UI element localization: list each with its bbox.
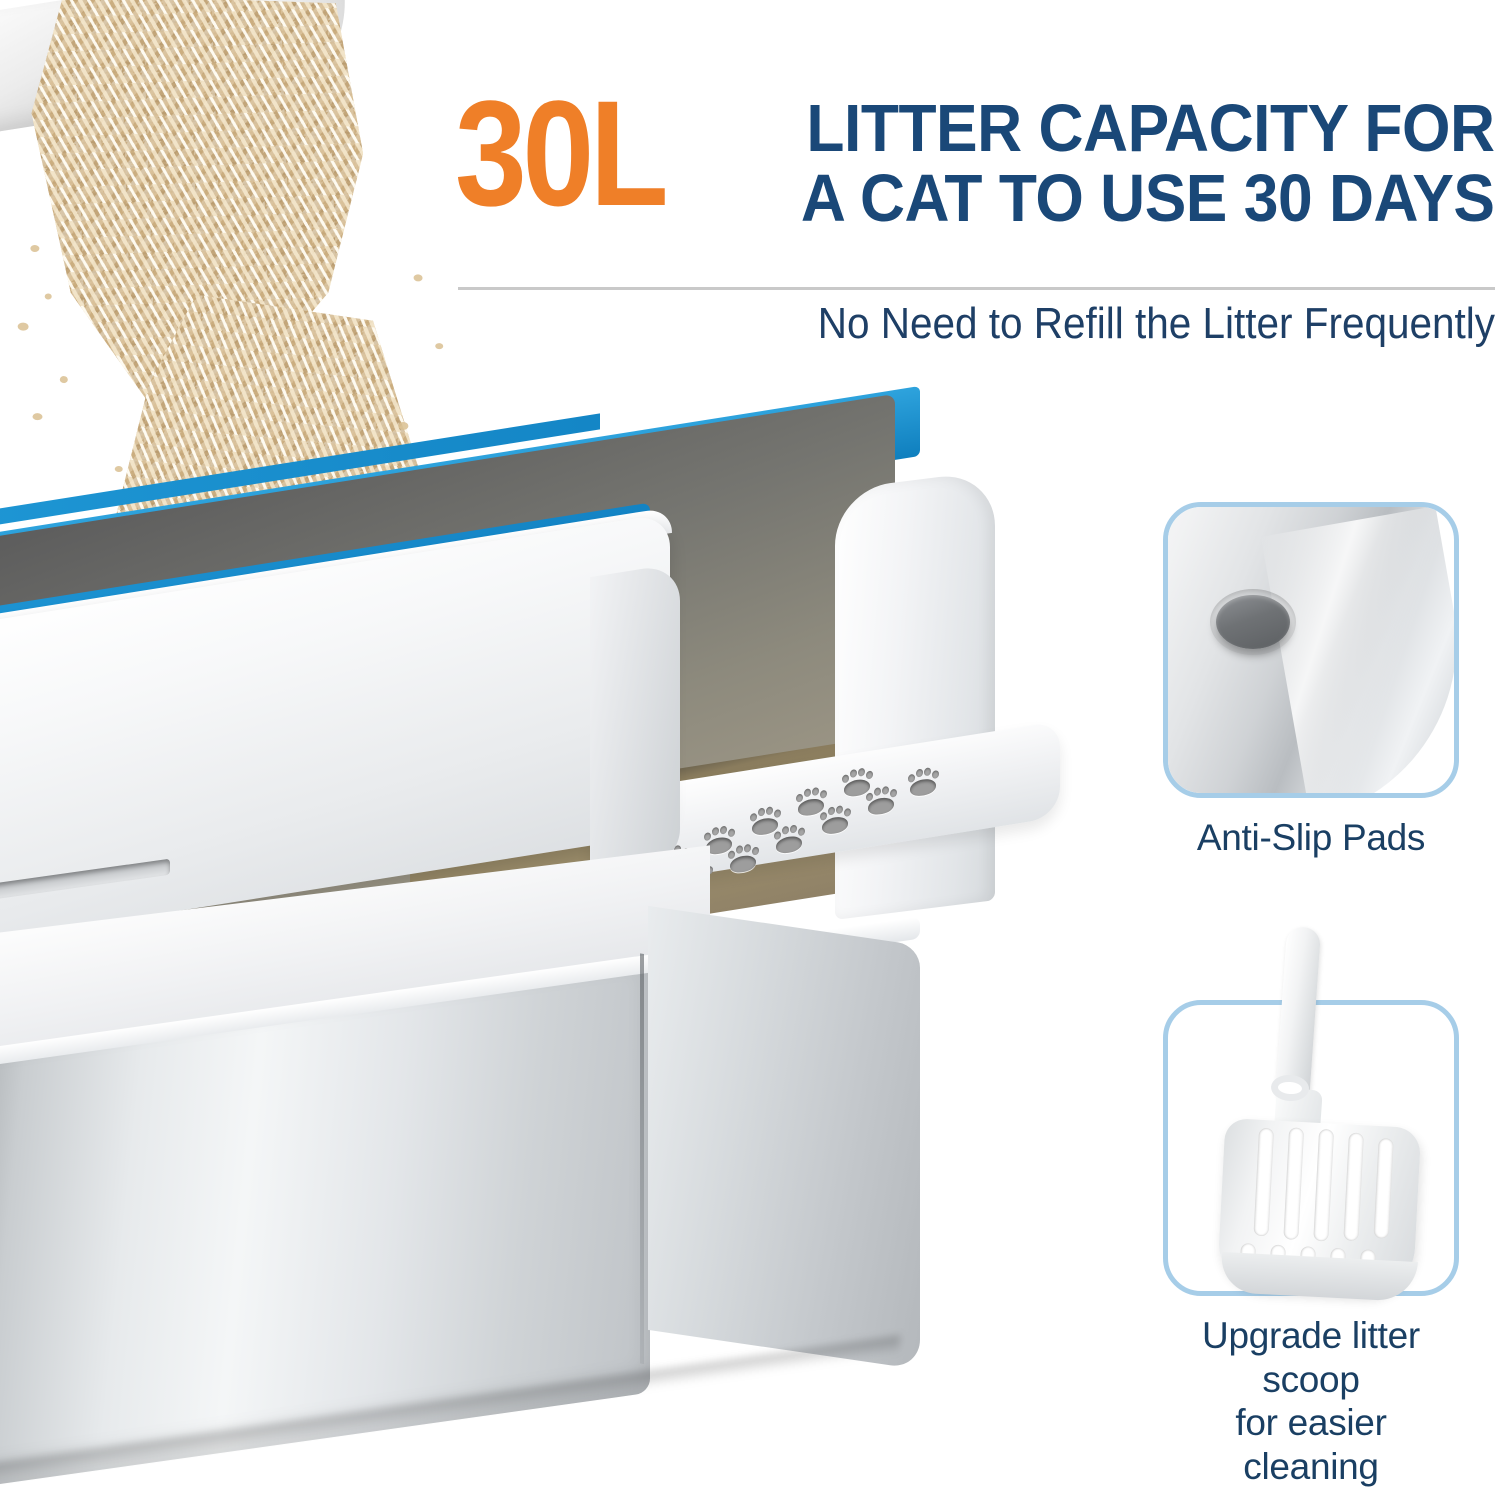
litter-particle [398,422,408,430]
anti-slip-pad-icon [1216,595,1290,649]
scoop-slot [1253,1128,1274,1237]
steel-right-face [648,906,920,1370]
litter-particle [18,322,29,330]
steel-corner-fold [640,953,644,1364]
scoop-slot [1374,1138,1394,1239]
marketing-image-canvas: 30L LITTER CAPACITY FOR A CAT TO USE 30 … [0,0,1500,1428]
headline-lines: LITTER CAPACITY FOR A CAT TO USE 30 DAYS [716,88,1495,233]
headline-subtitle: No Need to Refill the Litter Frequently [538,300,1495,348]
box-front-panel-edge [590,563,680,877]
litter-scoop-caption: Upgrade litter scoop for easier cleaning [1163,1314,1459,1489]
litter-scoop-icon [1223,927,1413,1297]
headline-line-2: A CAT TO USE 30 DAYS [771,164,1495,234]
litter-particle [435,343,443,349]
litter-particle [30,245,39,252]
litter-scoop-card [1163,1000,1459,1296]
headline-divider [458,287,1495,290]
anti-slip-pads-card [1163,502,1459,798]
scoop-slot [1283,1127,1304,1240]
scoop-slot [1313,1129,1334,1242]
litter-scoop-caption-line-2: for easier cleaning [1163,1401,1459,1488]
feature-anti-slip-pads: Anti-Slip Pads [1163,502,1459,860]
feature-litter-scoop: Upgrade litter scoop for easier cleaning [1163,1000,1459,1489]
litter-particle [413,274,422,281]
scoop-slot [1343,1132,1364,1241]
steel-front-face [0,973,650,1491]
litter-particle [60,376,68,383]
litter-scoop-caption-line-1: Upgrade litter scoop [1163,1314,1459,1401]
litter-particle [32,413,42,420]
capacity-number: 30L [455,82,664,225]
headline-line-1: LITTER CAPACITY FOR [771,94,1495,164]
litter-particle [45,293,52,299]
litter-box-body [0,440,1100,1400]
headline-block: 30L LITTER CAPACITY FOR A CAT TO USE 30 … [455,88,1495,233]
anti-slip-pads-caption: Anti-Slip Pads [1163,816,1459,860]
